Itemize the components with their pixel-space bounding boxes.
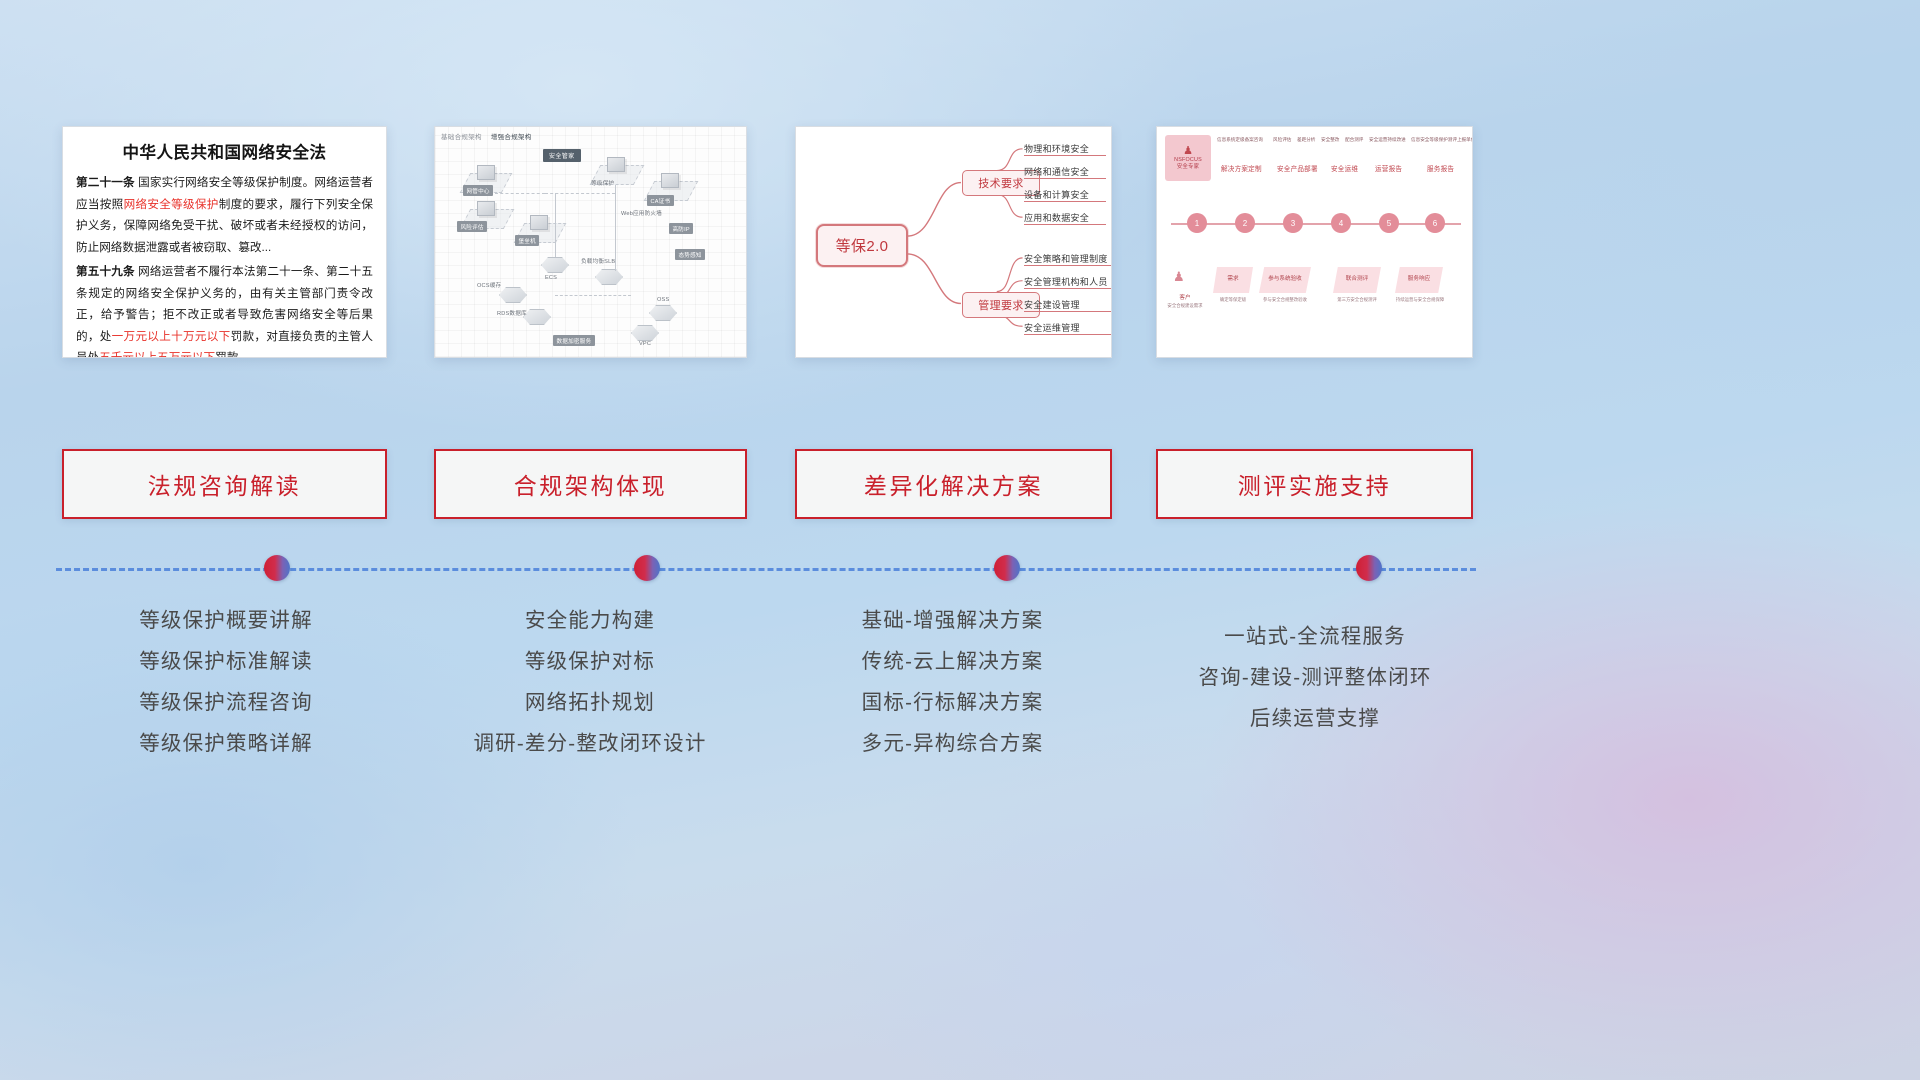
timeline xyxy=(56,568,1476,570)
arch-tag-ocs: OCS缓存 xyxy=(477,281,501,289)
arch-tag-encryption: 数据加密服务 xyxy=(553,335,595,346)
nsfocus-service-sub: 持续运营与安全合规保障 xyxy=(1389,297,1451,303)
arch-hex-rds xyxy=(523,309,551,325)
arch-tag-situation: 态势感知 xyxy=(675,249,705,260)
title-label-2: 合规架构体现 xyxy=(514,467,668,501)
screenshot-card-row: 中华人民共和国网络安全法 第二十一条 国家实行网络安全等级保护制度。网络运营者应… xyxy=(0,126,1920,362)
list-item: 调研-差分-整改闭环设计 xyxy=(430,723,750,764)
law-59-text-c: 罚款。 xyxy=(215,351,250,358)
list-item: 后续运营支撑 xyxy=(1150,698,1480,739)
law-21-highlight: 网络安全等级保护 xyxy=(124,198,219,211)
arch-box-5 xyxy=(661,173,679,188)
architecture-tabs: 基础合规架构增强合规架构 xyxy=(441,131,541,141)
arch-hex-vpc xyxy=(631,325,659,341)
title-box-row: 法规咨询解读 合规架构体现 差异化解决方案 测评实施支持 xyxy=(0,449,1920,519)
title-box-differentiated-solution[interactable]: 差异化解决方案 xyxy=(795,449,1112,519)
title-box-compliance-architecture[interactable]: 合规架构体现 xyxy=(434,449,747,519)
nsfocus-chip-0: 信息系统定级备案咨询 xyxy=(1217,137,1263,143)
nsfocus-service-label: 服务响应 xyxy=(1395,274,1443,282)
arch-tag-ca: CA证书 xyxy=(647,195,674,206)
list-item: 多元-异构综合方案 xyxy=(790,723,1115,764)
nsfocus-acceptance-label: 参与系统验收 xyxy=(1259,274,1311,282)
nsfocus-chip-5: 安全运营持续改进 xyxy=(1369,137,1406,143)
mindmap-canvas: 等保2.0 技术要求 管理要求 物理和环境安全 网络和通信安全 设备和计算安全 … xyxy=(796,127,1111,357)
title-box-evaluation-support[interactable]: 测评实施支持 xyxy=(1156,449,1473,519)
arch-box-2 xyxy=(477,201,495,216)
mindmap-root-node: 等保2.0 xyxy=(816,224,908,267)
nsfocus-chip-6: 信息安全等级保护测评上报单位及专家 xyxy=(1411,137,1473,143)
arch-hex-ocs xyxy=(499,287,527,303)
arch-box-3 xyxy=(530,215,548,230)
list-item: 传统-云上解决方案 xyxy=(790,641,1115,682)
arch-link-3 xyxy=(555,193,556,257)
nsfocus-step-5: 5 xyxy=(1379,213,1399,233)
title-label-3: 差异化解决方案 xyxy=(864,467,1043,501)
mindmap-leaf-org: 安全管理机构和人员 xyxy=(1024,275,1108,288)
nsfocus-chip-row: 信息系统定级备案咨询 风险评估 差距分析 安全整改 配合测评 安全运营持续改进 … xyxy=(1215,135,1466,181)
list-item: 等级保护流程咨询 xyxy=(56,682,396,723)
timeline-dot-2[interactable] xyxy=(634,555,660,581)
timeline-dot-4[interactable] xyxy=(1356,555,1382,581)
nsfocus-chip-2: 差距分析 xyxy=(1297,137,1315,143)
card-law-text[interactable]: 中华人民共和国网络安全法 第二十一条 国家实行网络安全等级保护制度。网络运营者应… xyxy=(62,126,387,358)
arch-link-1 xyxy=(495,193,545,194)
nsfocus-brand: NSFOCUS xyxy=(1174,157,1202,164)
title-label-4: 测评实施支持 xyxy=(1238,467,1392,501)
arch-hex-oss xyxy=(649,305,677,321)
mindmap-underline-8 xyxy=(1024,334,1112,335)
detail-list-2: 安全能力构建 等级保护对标 网络拓扑规划 调研-差分-整改闭环设计 xyxy=(430,600,750,764)
nsfocus-chip-1: 风险评估 xyxy=(1273,137,1291,143)
nsfocus-customer-label: 客户 xyxy=(1163,293,1207,301)
law-paragraph-59: 第五十九条 网络运营者不履行本法第二十一条、第二十五条规定的网络安全保护义务的，… xyxy=(76,261,373,358)
arch-tag-bastion: 堡垒机 xyxy=(515,235,539,246)
arch-hex-ecs xyxy=(541,257,569,273)
list-item: 等级保护策略详解 xyxy=(56,723,396,764)
detail-list-4: 一站式-全流程服务 咨询-建设-测评整体闭环 后续运营支撑 xyxy=(1150,616,1480,739)
nsfocus-joint-eval-sub: 第三方安全合规测评 xyxy=(1327,297,1387,303)
arch-node-security-butler: 安全管家 xyxy=(543,149,581,162)
arch-link-4 xyxy=(615,185,616,271)
mindmap-leaf-policy: 安全策略和管理制度 xyxy=(1024,252,1108,265)
mindmap-underline-4 xyxy=(1024,224,1106,225)
slide-root: 中华人民共和国网络安全法 第二十一条 国家实行网络安全等级保护制度。网络运营者应… xyxy=(0,0,1920,1080)
arch-hex-slb xyxy=(595,269,623,285)
timeline-dot-1[interactable] xyxy=(264,555,290,581)
arch-tag-netmgmt: 网管中心 xyxy=(463,185,493,196)
law-59-highlight-2: 五千元以上五万元以下 xyxy=(99,351,215,358)
nsfocus-canvas: ♟ NSFOCUS 安全专家 信息系统定级备案咨询 风险评估 差距分析 安全整改… xyxy=(1157,127,1472,357)
nsfocus-step-1: 1 xyxy=(1187,213,1207,233)
law-body: 中华人民共和国网络安全法 第二十一条 国家实行网络安全等级保护制度。网络运营者应… xyxy=(63,127,386,358)
list-item: 一站式-全流程服务 xyxy=(1150,616,1480,657)
arch-tab-enhanced[interactable]: 增强合规架构 xyxy=(491,134,532,141)
nsfocus-sub-1: 安全产品部署 xyxy=(1277,163,1318,173)
mindmap-underline-2 xyxy=(1024,178,1106,179)
list-item: 国标-行标解决方案 xyxy=(790,682,1115,723)
nsfocus-chip-4: 配合测评 xyxy=(1345,137,1363,143)
nsfocus-sub-3: 运营报告 xyxy=(1375,163,1402,173)
list-item: 等级保护标准解读 xyxy=(56,641,396,682)
nsfocus-brand-badge: ♟ NSFOCUS 安全专家 xyxy=(1165,135,1211,181)
nsfocus-sub-0: 解决方案定制 xyxy=(1221,163,1262,173)
mindmap-leaf-build: 安全建设管理 xyxy=(1024,298,1080,311)
arch-box-4 xyxy=(607,157,625,172)
law-title: 中华人民共和国网络安全法 xyxy=(76,139,373,163)
arch-tab-basic[interactable]: 基础合规架构 xyxy=(441,134,482,141)
title-box-regulation-consulting[interactable]: 法规咨询解读 xyxy=(62,449,387,519)
arch-box-1 xyxy=(477,165,495,180)
nsfocus-chip-3: 安全整改 xyxy=(1321,137,1339,143)
mindmap-underline-5 xyxy=(1024,265,1112,266)
nsfocus-acceptance-sub: 参与安全合规整改验收 xyxy=(1253,297,1317,303)
arch-tag-grade: 等级保护 xyxy=(591,179,614,187)
person-icon: ♟ xyxy=(1183,145,1193,157)
arch-tag-oss: OSS xyxy=(657,297,669,303)
nsfocus-step-3: 3 xyxy=(1283,213,1303,233)
arch-tag-vpc: VPC xyxy=(639,341,651,347)
nsfocus-demand-sub: 确定等保定级 xyxy=(1207,297,1259,303)
detail-list-3: 基础-增强解决方案 传统-云上解决方案 国标-行标解决方案 多元-异构综合方案 xyxy=(790,600,1115,764)
detail-list-1: 等级保护概要讲解 等级保护标准解读 等级保护流程咨询 等级保护策略详解 xyxy=(56,600,396,764)
mindmap-leaf-device: 设备和计算安全 xyxy=(1024,188,1089,201)
nsfocus-sub-2: 安全运维 xyxy=(1331,163,1358,173)
nsfocus-brand-sub: 安全专家 xyxy=(1177,164,1199,171)
law-59-highlight-1: 一万元以上十万元以下 xyxy=(112,330,231,343)
nsfocus-step-4: 4 xyxy=(1331,213,1351,233)
timeline-dot-3[interactable] xyxy=(994,555,1020,581)
customer-icon: ♟ xyxy=(1173,269,1185,285)
arch-tag-risk: 风险评估 xyxy=(457,221,487,232)
law-article-59-label: 第五十九条 xyxy=(76,265,135,278)
arch-tag-waf: Web应用防火墙 xyxy=(621,209,662,217)
detail-list-row: 等级保护概要讲解 等级保护标准解读 等级保护流程咨询 等级保护策略详解 安全能力… xyxy=(0,600,1920,820)
nsfocus-sub-4: 服务报告 xyxy=(1427,163,1454,173)
mindmap-leaf-physical: 物理和环境安全 xyxy=(1024,142,1089,155)
mindmap-underline-7 xyxy=(1024,311,1112,312)
nsfocus-axis xyxy=(1171,223,1461,225)
list-item: 基础-增强解决方案 xyxy=(790,600,1115,641)
list-item: 等级保护概要讲解 xyxy=(56,600,396,641)
arch-tag-highdefip: 高防IP xyxy=(669,223,693,234)
list-item: 安全能力构建 xyxy=(430,600,750,641)
arch-tag-slb: 负载均衡SLB xyxy=(581,257,615,265)
nsfocus-joint-eval-label: 联合测评 xyxy=(1333,274,1381,282)
card-architecture-diagram[interactable]: 基础合规架构增强合规架构 安全管家 网管中心 风险评估 堡垒机 等级保护 CA证… xyxy=(434,126,747,358)
list-item: 网络拓扑规划 xyxy=(430,682,750,723)
mindmap-leaf-ops: 安全运维管理 xyxy=(1024,321,1080,334)
mindmap-underline-3 xyxy=(1024,201,1106,202)
nsfocus-step-6: 6 xyxy=(1425,213,1445,233)
law-article-21-label: 第二十一条 xyxy=(76,176,135,189)
arch-tag-rds: RDS数据库 xyxy=(497,309,527,317)
mindmap-leaf-network: 网络和通信安全 xyxy=(1024,165,1089,178)
mindmap-leaf-application: 应用和数据安全 xyxy=(1024,211,1089,224)
arch-tag-ecs: ECS xyxy=(545,275,557,281)
card-mindmap[interactable]: 等保2.0 技术要求 管理要求 物理和环境安全 网络和通信安全 设备和计算安全 … xyxy=(795,126,1112,358)
nsfocus-step-2: 2 xyxy=(1235,213,1255,233)
mindmap-underline-6 xyxy=(1024,288,1112,289)
architecture-canvas: 基础合规架构增强合规架构 安全管家 网管中心 风险评估 堡垒机 等级保护 CA证… xyxy=(435,127,746,357)
title-label-1: 法规咨询解读 xyxy=(148,467,302,501)
list-item: 等级保护对标 xyxy=(430,641,750,682)
mindmap-underline-1 xyxy=(1024,155,1106,156)
arch-link-5 xyxy=(555,295,631,296)
nsfocus-demand-label: 需求 xyxy=(1213,274,1253,282)
law-paragraph-21: 第二十一条 国家实行网络安全等级保护制度。网络运营者应当按照网络安全等级保护制度… xyxy=(76,172,373,258)
nsfocus-header: ♟ NSFOCUS 安全专家 信息系统定级备案咨询 风险评估 差距分析 安全整改… xyxy=(1165,135,1466,181)
list-item: 咨询-建设-测评整体闭环 xyxy=(1150,657,1480,698)
nsfocus-customer-sub: 安全合规建设需求 xyxy=(1157,303,1213,309)
card-nsfocus-timeline[interactable]: ♟ NSFOCUS 安全专家 信息系统定级备案咨询 风险评估 差距分析 安全整改… xyxy=(1156,126,1473,358)
